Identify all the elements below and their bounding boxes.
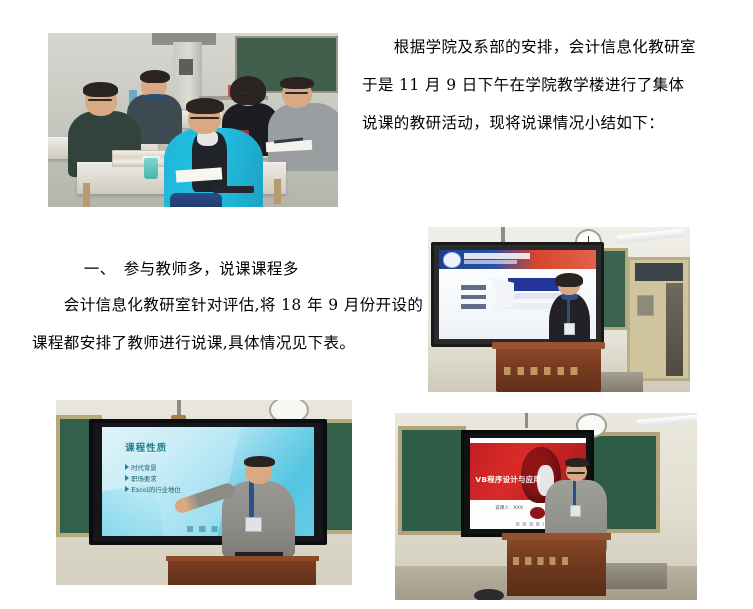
hair: [555, 273, 583, 287]
bullet-triangle-icon: [125, 464, 129, 470]
lectern-top: [492, 342, 605, 349]
lectern: [168, 559, 316, 585]
hair: [280, 77, 314, 89]
photo-classroom-audience: [48, 33, 338, 207]
slide-text-lines: [461, 285, 486, 308]
slide-text-line: [461, 304, 486, 308]
person-male-teacher: [219, 459, 299, 570]
slide-bullet-text: Excel的行业地位: [131, 486, 181, 494]
photo-presenter-male: VB程序设计与应用 说课人：XXX: [395, 413, 697, 600]
slide-title: 课程性质: [125, 440, 167, 454]
lectern-top: [166, 556, 320, 561]
glasses: [190, 117, 220, 119]
slide-bullet-item: Excel的行业地位: [125, 485, 181, 496]
backpack: [170, 193, 222, 207]
phone-on-desk: [213, 186, 254, 193]
scarf: [144, 94, 166, 100]
slide-bullet-text: 时代背景: [131, 464, 157, 472]
lectern-top: [502, 533, 612, 540]
lectern: [496, 346, 601, 392]
id-badge: [564, 323, 574, 335]
slide-bullet-item: 职场要求: [125, 474, 181, 485]
classroom-door: [627, 257, 690, 382]
slide-bullet-list: 时代背景 职场要求 Excel的行业地位: [125, 463, 181, 496]
lecture-room-scene: VB程序设计与应用 说课人：XXX: [395, 413, 697, 600]
slide-question-mark-dot: [530, 507, 545, 519]
door-open-gap: [666, 283, 683, 376]
lectern-engraving: [513, 557, 575, 565]
section-heading-one: 一、 参与教师多，说课课程多: [52, 250, 432, 288]
lanyard: [573, 480, 576, 507]
lecture-room-scene: [428, 227, 690, 392]
school-name-sub: [464, 260, 518, 264]
door-vision-panel: [637, 295, 654, 316]
lectern: [507, 536, 607, 596]
hair: [230, 76, 266, 105]
desk-leg: [83, 183, 90, 207]
hair: [186, 98, 224, 114]
school-name-block: [464, 253, 530, 258]
lanyard: [567, 298, 570, 325]
bullet-triangle-icon: [125, 486, 129, 492]
intro-paragraph: 根据学院及系部的安排，会计信息化教研室于是 11 月 9 日下午在学院教学楼进行…: [362, 28, 698, 142]
lecture-room-scene: 课程性质 时代背景 职场要求 Excel的行业地位: [56, 400, 352, 585]
slide-text-line: [461, 295, 486, 299]
waste-bin: [474, 589, 504, 600]
travel-mug: [144, 158, 159, 179]
id-badge: [570, 505, 581, 518]
slide-text-line: [461, 285, 486, 289]
id-badge: [245, 517, 261, 532]
slide-title: VB程序设计与应用: [475, 474, 541, 485]
hair: [565, 458, 589, 467]
hair: [140, 70, 170, 84]
slide-bullet-text: 职场要求: [131, 475, 157, 483]
blackboard-left: [398, 426, 466, 535]
classroom-scene: [48, 33, 338, 207]
slide-bullet-item: 时代背景: [125, 463, 181, 474]
glasses: [88, 99, 112, 101]
glasses: [285, 92, 308, 94]
body-paragraph: 会计信息化教研室针对评估,将 18 年 9 月份开设的课程都安排了教师进行说课,…: [32, 286, 424, 362]
person-man-right: [268, 80, 338, 167]
hair: [244, 456, 275, 467]
desk-leg: [274, 179, 281, 203]
slide-presenter-name: 说课人：XXX: [495, 505, 523, 511]
photo-presenter-female: [428, 227, 690, 392]
photo-teacher-pointing-at-slide: 课程性质 时代背景 职场要求 Excel的行业地位: [56, 400, 352, 585]
bullet-triangle-icon: [125, 475, 129, 481]
door-transom-window: [635, 263, 683, 281]
ceiling-hanger: [525, 413, 528, 428]
school-logo-icon: [443, 252, 461, 267]
hair: [83, 82, 118, 96]
lanyard: [249, 481, 254, 519]
slide-toolbar: [516, 522, 544, 526]
lectern-engraving: [504, 367, 577, 375]
